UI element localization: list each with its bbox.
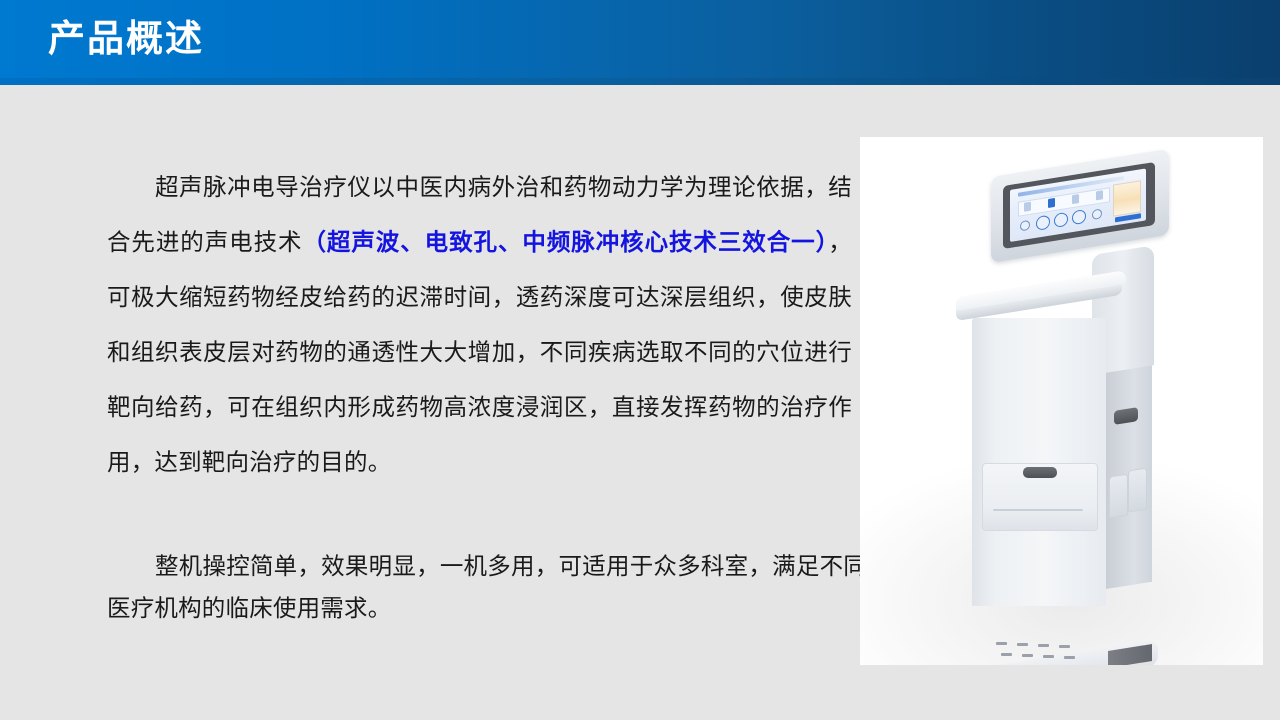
paragraph-segment-highlight: （超声波、电致孔、中频脉冲核心技术三效合一） xyxy=(302,229,828,255)
vent-slot xyxy=(1043,655,1054,658)
screen-dial xyxy=(1054,212,1068,228)
device-drawer-seam xyxy=(993,509,1083,511)
screen-mode-icon xyxy=(1024,202,1031,212)
device-probe-holster-left xyxy=(1109,473,1128,518)
device-probe-holster-right xyxy=(1128,467,1147,512)
vent-slot xyxy=(1022,654,1033,657)
slide-product-overview: 产品概述 超声脉冲电导治疗仪以中医内病外治和药物动力学为理论依据，结合先进的声电… xyxy=(0,0,1280,720)
vent-slot xyxy=(1001,653,1012,656)
paragraph-segment-normal-2: ，可极大缩短药物经皮给药的迟滞时间，透药深度可达深层组织，使皮肤和组织表皮层对药… xyxy=(107,229,852,475)
paragraph-overview: 超声脉冲电导治疗仪以中医内病外治和药物动力学为理论依据，结合先进的声电技术（超声… xyxy=(107,160,852,490)
screen-dial-small xyxy=(1092,208,1102,220)
device-tower-front-panel xyxy=(972,318,1106,606)
screen-mode-icon xyxy=(1096,190,1103,200)
screen-mode-icon xyxy=(1072,194,1079,204)
screen-waveform-panel xyxy=(1113,180,1141,216)
paragraph-usage: 整机操控简单，效果明显，一机多用，可适用于众多科室，满足不同医疗机构的临床使用需… xyxy=(107,545,867,629)
screen-dial-small xyxy=(1020,220,1030,232)
vent-slot xyxy=(1038,644,1049,647)
slide-header-underline xyxy=(0,78,1280,85)
vent-slot xyxy=(1017,643,1028,646)
vent-slot xyxy=(1064,656,1075,659)
page-title: 产品概述 xyxy=(48,14,204,64)
body-text-column: 超声脉冲电导治疗仪以中医内病外治和药物动力学为理论依据，结合先进的声电技术（超声… xyxy=(107,160,852,490)
device-drawer-handle xyxy=(1023,467,1057,478)
product-image-panel xyxy=(860,137,1263,665)
vent-slot xyxy=(996,642,1007,645)
screen-mode-icon-selected xyxy=(1048,198,1055,208)
vent-slot xyxy=(1059,645,1070,648)
product-photo-backdrop xyxy=(860,137,1263,665)
device-vent-grille xyxy=(996,642,1072,664)
screen-dial xyxy=(1072,209,1086,225)
screen-dial xyxy=(1036,215,1050,231)
